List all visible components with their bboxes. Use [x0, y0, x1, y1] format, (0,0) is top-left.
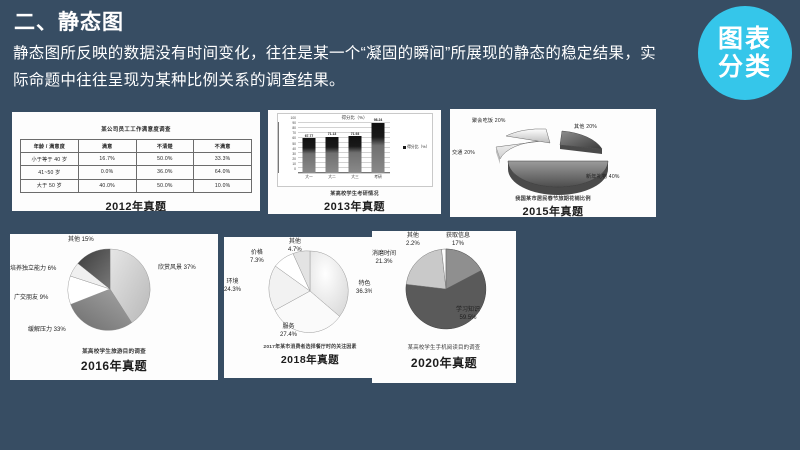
y-axis-tick-label: 90	[292, 121, 296, 125]
table-cell: 0.0%	[78, 166, 136, 179]
chart-caption: 我国某市居民春节旅期花销比例	[515, 195, 590, 202]
table-row: 大于 50 岁 40.0% 50.0% 10.0%	[21, 179, 252, 192]
pie-slice-label: 欣赏风景 37%	[158, 265, 196, 273]
table-cell: 36.0%	[136, 166, 194, 179]
chart-card-inner: 其他 2.2% 获取信息 17% 消磨时间 21.3% 学习知识 59.5% 某…	[372, 231, 516, 383]
pie-2020-graphic	[372, 233, 516, 343]
bar-plot-area: 010203040506070809010067.77大一71.13大二71.9…	[298, 122, 390, 173]
table-cell: 50.0%	[136, 179, 194, 192]
chart-card-inner: 其他 15% 欣赏风景 37% 培养独立能力 6% 广交朋友 9% 缓解压力 3…	[10, 234, 218, 380]
bar-value-label: 98.24	[374, 118, 383, 122]
pie-slice-name: 获取信息	[446, 233, 470, 241]
table-cell: 40.0%	[78, 179, 136, 192]
y-axis-tick-label: 10	[292, 162, 296, 166]
pie-slice-label: 特色 36.3%	[356, 281, 373, 296]
bar: 71.93大三	[349, 136, 362, 173]
chart-card-inner: 某公司员工工作满意度调查 年龄 / 满意度 满意 不清楚 不满意 小于等于 40…	[12, 112, 260, 211]
badge-line-2: 分类	[718, 53, 772, 81]
pie-slice-label: 消磨时间 21.3%	[372, 251, 396, 266]
bar-chart-title: 得分比（%）	[278, 115, 432, 121]
table-col-header: 不满意	[194, 140, 252, 153]
chart-card-2018[interactable]: 其他 4.7% 价格 7.3% 环境 24.3% 特色 36.3% 服务 27.…	[224, 237, 396, 378]
pie-slice-label: 价格 7.3%	[250, 250, 264, 265]
pie-slice-label: 服务 27.4%	[280, 324, 297, 339]
page-title: 二、静态图	[14, 6, 124, 36]
page-body-text: 静态图所反映的数据没有时间变化，往往是某一个“凝固的瞬间”所展现的静态的稳定结果…	[13, 40, 668, 94]
bar-value-label: 67.77	[305, 134, 314, 138]
chart-caption: 某高校学生手机阅读目的调查	[408, 343, 481, 351]
x-axis-tick-label: 大二	[328, 175, 336, 180]
pie-slice-label: 获取信息 17%	[446, 233, 470, 248]
y-axis-tick-label: 80	[292, 126, 296, 130]
chart-card-inner: 得分比（%） 010203040506070809010067.77大一71.1…	[268, 110, 441, 214]
table-row: 41~50 岁 0.0% 36.0% 64.0%	[21, 166, 252, 179]
year-label: 2015年真题	[523, 203, 584, 217]
table-row: 小于等于 40 岁 16.7% 50.0% 33.3%	[21, 153, 252, 166]
bar: 71.13大二	[326, 137, 339, 173]
bar-value-label: 71.13	[328, 132, 337, 136]
pie-chart-2020: 其他 2.2% 获取信息 17% 消磨时间 21.3% 学习知识 59.5%	[372, 233, 516, 343]
badge-line-1: 图表	[718, 25, 772, 53]
chart-card-2012[interactable]: 某公司员工工作满意度调查 年龄 / 满意度 满意 不清楚 不满意 小于等于 40…	[12, 112, 260, 211]
pie-slice-label: 新年礼物 40%	[586, 173, 620, 180]
table-title: 某公司员工工作满意度调查	[101, 125, 171, 133]
x-axis-tick-label: 考研	[374, 175, 382, 180]
pie-slice-value: 27.4%	[280, 332, 297, 340]
year-label: 2020年真题	[411, 354, 477, 371]
chart-caption: 某高校学生考研情况	[330, 190, 379, 197]
pie-slice-label: 其他 20%	[574, 123, 597, 130]
chart-card-inner: 其他 4.7% 价格 7.3% 环境 24.3% 特色 36.3% 服务 27.…	[224, 237, 396, 378]
table-cell: 小于等于 40 岁	[21, 153, 79, 166]
pie-slice-value: 17%	[446, 241, 470, 249]
table-cell: 10.0%	[194, 179, 252, 192]
pie-slice-label: 聚会吃饭 20%	[472, 117, 506, 124]
table-cell: 16.7%	[78, 153, 136, 166]
y-axis-tick-label: 50	[292, 142, 296, 146]
pie-slice-value: 59.5%	[456, 315, 480, 323]
pie-slice-name: 价格	[250, 250, 264, 258]
x-axis-tick-label: 大三	[351, 175, 359, 180]
y-axis-tick-label: 70	[292, 131, 296, 135]
year-label: 2016年真题	[81, 357, 147, 374]
bar-value-label: 71.93	[351, 132, 360, 136]
pie-chart-2016: 其他 15% 欣赏风景 37% 培养独立能力 6% 广交朋友 9% 缓解压力 3…	[10, 235, 218, 347]
legend-label: 得分比（%）	[407, 145, 429, 150]
pie-slice-label: 其他 2.2%	[406, 233, 420, 248]
chart-card-2013[interactable]: 得分比（%） 010203040506070809010067.77大一71.1…	[268, 110, 441, 214]
pie-slice-label: 广交朋友 9%	[14, 295, 48, 303]
pie-slice-name: 学习知识	[456, 307, 480, 315]
pie-slice-value: 2.2%	[406, 241, 420, 249]
pie-slice-label: 其他 4.7%	[288, 239, 302, 254]
pie-slice-name: 特色	[356, 281, 373, 289]
pie-slice-label: 缓解压力 33%	[28, 327, 66, 335]
pie-slice-value: 7.3%	[250, 258, 264, 266]
table-col-header: 年龄 / 满意度	[21, 140, 79, 153]
y-axis	[278, 122, 279, 173]
chart-card-2015[interactable]: 聚会吃饭 20% 其他 20% 交通 20% 新年礼物 40% 我国某市居民春节…	[450, 109, 656, 217]
survey-table: 年龄 / 满意度 满意 不清楚 不满意 小于等于 40 岁 16.7% 50.0…	[20, 139, 252, 193]
pie-slice-value: 4.7%	[288, 247, 302, 255]
category-badge: 图表 分类	[698, 6, 792, 100]
chart-caption: 2017年某市消费者选择餐厅时的关注因素	[263, 343, 356, 350]
pie-chart-3d: 聚会吃饭 20% 其他 20% 交通 20% 新年礼物 40%	[450, 111, 656, 195]
pie-slice-name: 服务	[280, 324, 297, 332]
table-cell: 50.0%	[136, 153, 194, 166]
pie-slice-name: 环境	[224, 279, 241, 287]
table-col-header: 满意	[78, 140, 136, 153]
y-axis-tick-label: 60	[292, 136, 296, 140]
table-cell: 33.3%	[194, 153, 252, 166]
year-label: 2018年真题	[281, 352, 339, 367]
y-axis-tick-label: 30	[292, 152, 296, 156]
year-label: 2013年真题	[324, 198, 385, 214]
pie-slice-value: 21.3%	[372, 259, 396, 267]
y-axis-tick-label: 40	[292, 147, 296, 151]
chart-card-2016[interactable]: 其他 15% 欣赏风景 37% 培养独立能力 6% 广交朋友 9% 缓解压力 3…	[10, 234, 218, 380]
pie-slice-value: 36.3%	[356, 289, 373, 297]
table-col-header: 不清楚	[136, 140, 194, 153]
chart-card-2020[interactable]: 其他 2.2% 获取信息 17% 消磨时间 21.3% 学习知识 59.5% 某…	[372, 231, 516, 383]
y-axis-tick-label: 0	[294, 167, 296, 171]
table-cell: 大于 50 岁	[21, 179, 79, 192]
pie-slice-label: 其他 15%	[68, 237, 94, 245]
pie-slice-name: 其他	[288, 239, 302, 247]
bar-chart-legend: 得分比（%）	[403, 145, 429, 150]
pie-chart-2018: 其他 4.7% 价格 7.3% 环境 24.3% 特色 36.3% 服务 27.…	[224, 239, 396, 343]
chart-caption: 某高校学生旅游目的调查	[82, 347, 146, 355]
pie-slice-label: 交通 20%	[452, 149, 475, 156]
legend-swatch-icon	[403, 146, 406, 149]
x-axis-tick-label: 大一	[305, 175, 313, 180]
bar: 98.24考研	[372, 123, 385, 173]
pie-slice-value: 24.3%	[224, 287, 241, 295]
year-label: 2012年真题	[106, 198, 167, 211]
y-axis-tick-label: 20	[292, 157, 296, 161]
table-cell: 64.0%	[194, 166, 252, 179]
chart-card-inner: 聚会吃饭 20% 其他 20% 交通 20% 新年礼物 40% 我国某市居民春节…	[450, 109, 656, 217]
y-axis-tick-label: 100	[290, 116, 296, 120]
pie-slice-label: 学习知识 59.5%	[456, 307, 480, 322]
table-cell: 41~50 岁	[21, 166, 79, 179]
pie-slice-name: 其他	[406, 233, 420, 241]
pie-slice-label: 培养独立能力 6%	[10, 266, 56, 274]
pie-slice-label: 环境 24.3%	[224, 279, 241, 294]
pie-slice-name: 消磨时间	[372, 251, 396, 259]
bar: 67.77大一	[303, 138, 316, 173]
bar-chart: 得分比（%） 010203040506070809010067.77大一71.1…	[277, 113, 433, 187]
table-header-row: 年龄 / 满意度 满意 不清楚 不满意	[21, 140, 252, 153]
